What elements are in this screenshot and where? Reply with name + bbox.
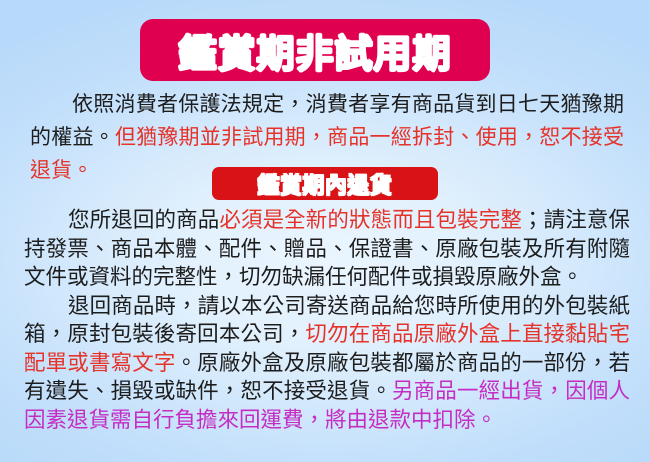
section-title-badge: 鑑賞期內退貨 xyxy=(212,167,438,200)
return-conditions-block-two: 退回商品時，請以本公司寄送商品給您時所使用的外包裝紙箱，原封包裝後寄回本公司，切… xyxy=(24,293,630,436)
main-title-badge: 鑑賞期非試用期 xyxy=(140,19,490,81)
return-conditions-block-one: 您所退回的商品必須是全新的狀態而且包裝完整；請注意保持發票、商品本體、配件、贈品… xyxy=(24,207,630,293)
main-title-badge-label: 鑑賞期非試用期 xyxy=(178,23,451,78)
return-conditions-paragraph: 您所退回的商品必須是全新的狀態而且包裝完整；請注意保持發票、商品本體、配件、贈品… xyxy=(24,207,630,435)
return-conditions-text-one-emphasis: 必須是全新的狀態而且包裝完整 xyxy=(219,208,522,233)
return-policy-notice: 鑑賞期非試用期 依照消費者保護法規定，消費者享有商品貨到日七天猶豫期的權益。但猶… xyxy=(0,0,650,462)
return-conditions-text-one-a: 您所退回的商品 xyxy=(68,208,219,233)
section-title-badge-label: 鑑賞期內退貨 xyxy=(257,168,392,200)
